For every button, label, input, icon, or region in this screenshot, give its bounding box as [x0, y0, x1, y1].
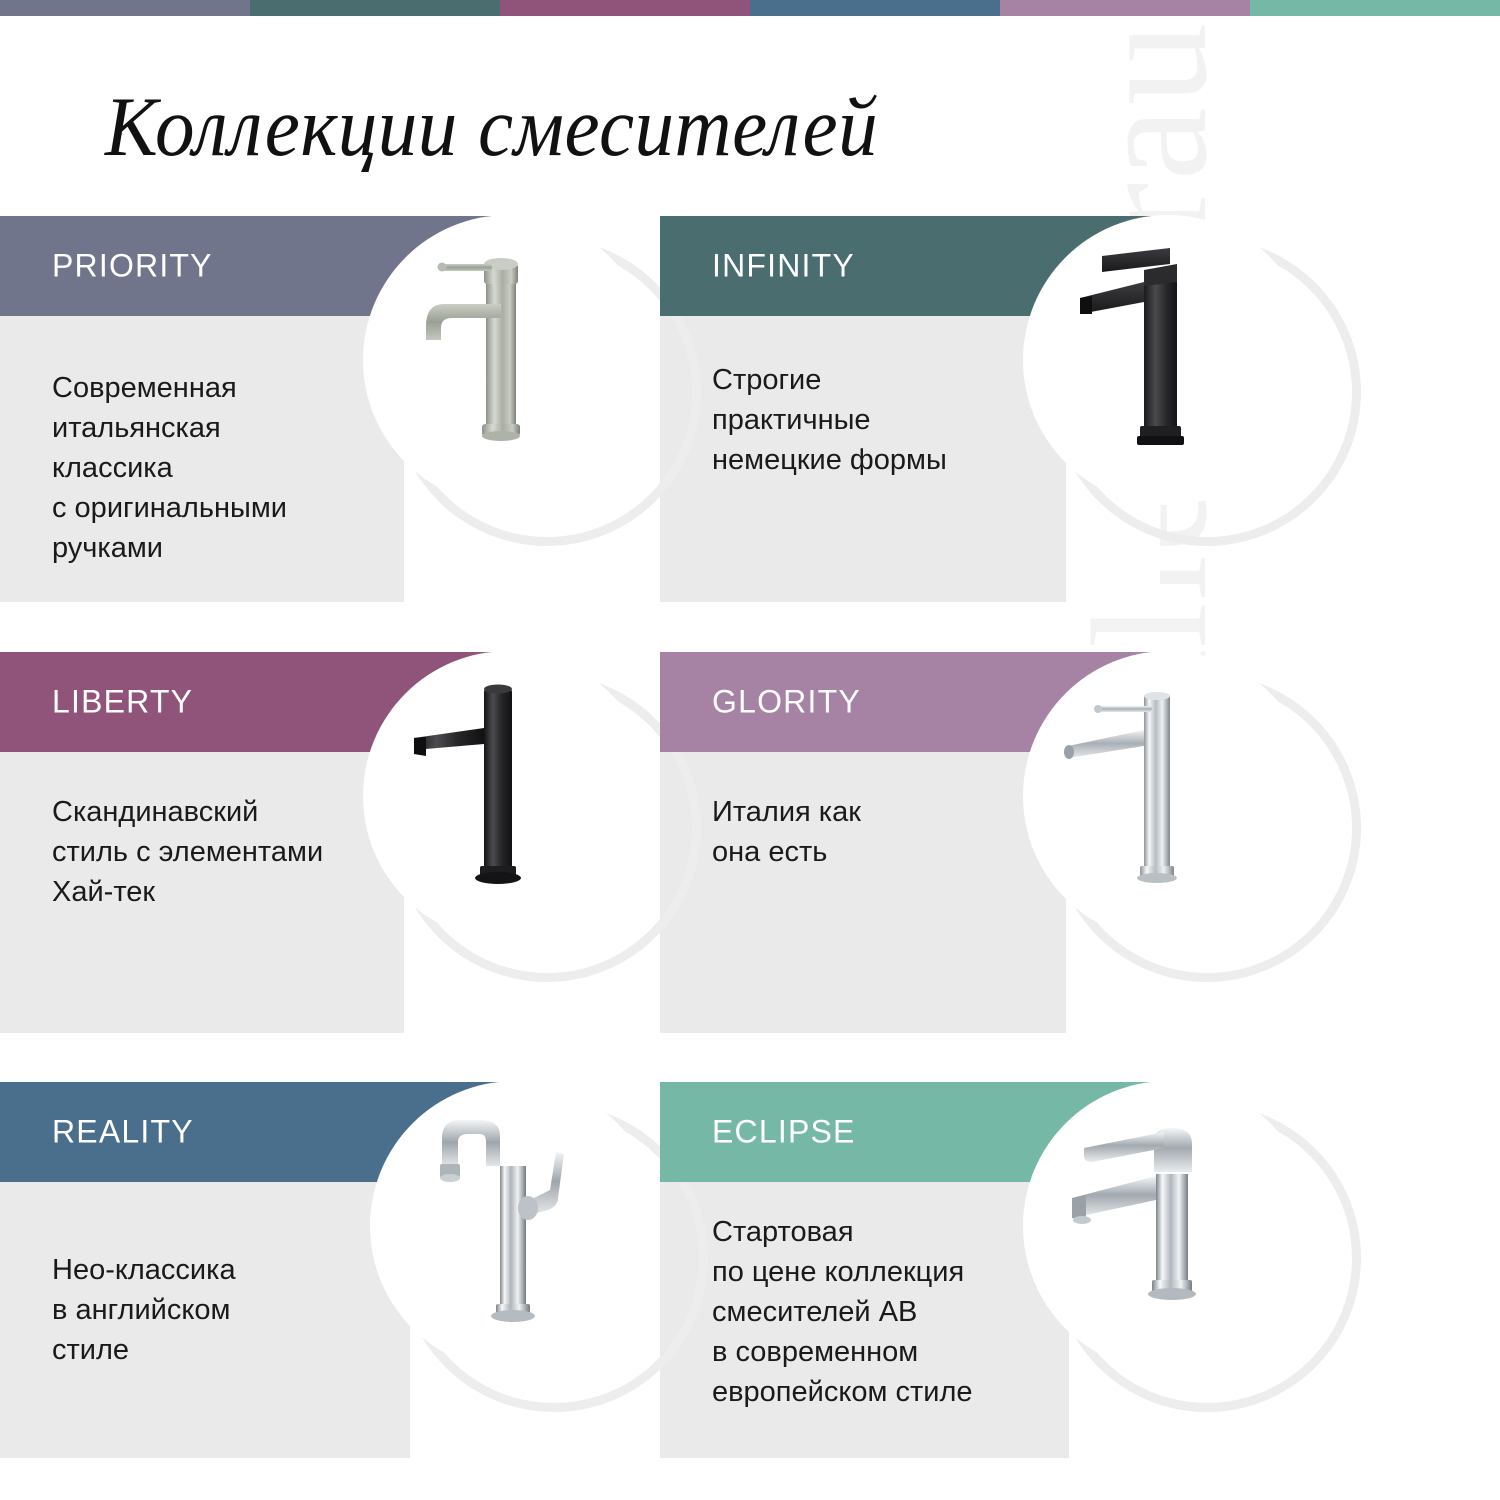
card-title: GLORITY: [712, 684, 861, 721]
card-description: Италия как она есть: [712, 792, 861, 872]
collection-card-liberty[interactable]: LIBERTY Скандинавский стиль с элеме: [0, 652, 498, 1033]
faucet-tall-brushed-nickel-icon: [400, 242, 600, 472]
collection-card-priority[interactable]: PRIORITY: [0, 216, 498, 602]
card-title: PRIORITY: [52, 248, 213, 285]
card-description: Современная итальянская классика с ориги…: [52, 368, 287, 568]
collection-card-glority[interactable]: GLORITY: [660, 652, 1160, 1033]
card-description: Строгие практичные немецкие формы: [712, 360, 947, 480]
collection-card-eclipse[interactable]: ECLIPSE: [660, 1082, 1163, 1458]
faucet-bridge-lever-chrome-icon: [400, 1106, 610, 1336]
card-description: Стартовая по цене коллекция смесителей A…: [712, 1212, 973, 1412]
collection-card-infinity[interactable]: INFINITY: [660, 216, 1160, 602]
card-title: LIBERTY: [52, 684, 193, 721]
faucet-tall-square-black-icon: [1058, 236, 1258, 466]
faucet-tall-slim-chrome-icon: [1052, 674, 1252, 904]
collection-card-reality[interactable]: REALITY: [0, 1082, 518, 1458]
faucet-tall-round-black-icon: [396, 676, 596, 906]
card-title: INFINITY: [712, 248, 855, 285]
card-title: ECLIPSE: [712, 1114, 856, 1151]
faucet-low-chrome-icon: [1056, 1122, 1266, 1352]
card-title: REALITY: [52, 1114, 194, 1151]
card-description: Нео-классика в английском стиле: [52, 1250, 236, 1370]
card-description: Скандинавский стиль с элементами Хай-тек: [52, 792, 323, 912]
collection-grid: PRIORITY: [0, 0, 1500, 1500]
